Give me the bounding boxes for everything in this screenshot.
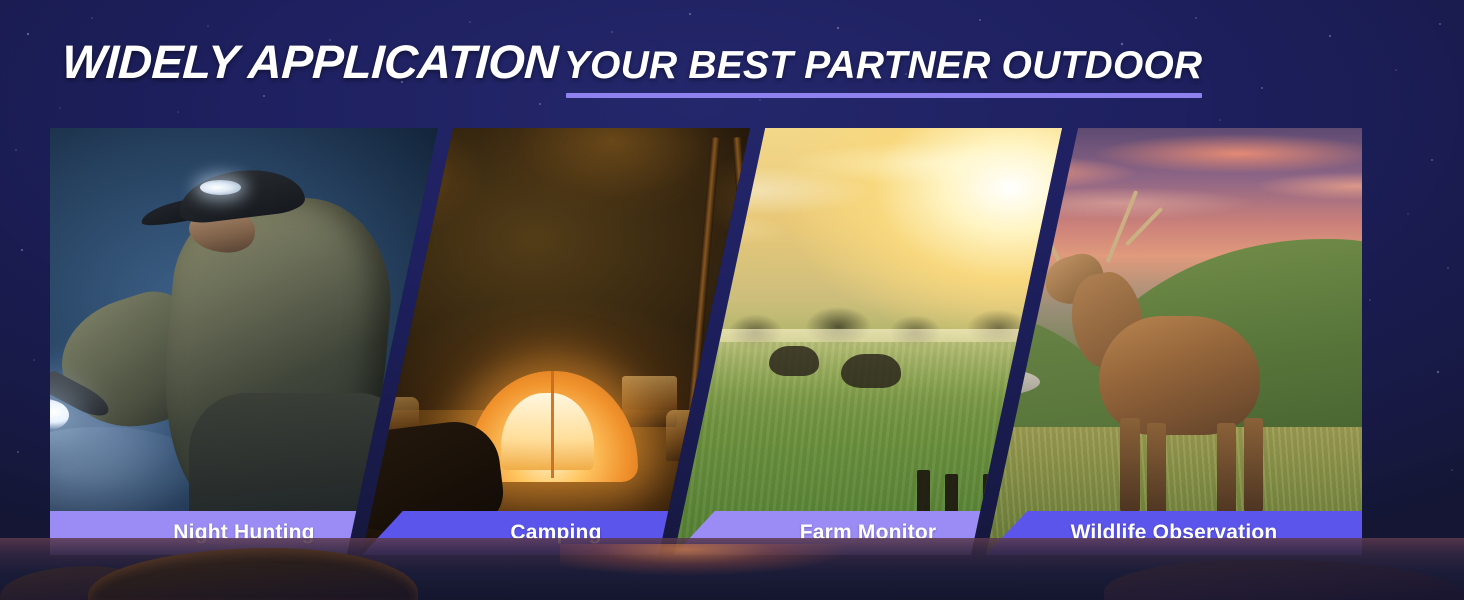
stag-leg [1244, 418, 1263, 512]
banner-heading: WIDELY APPLICATION YOUR BEST PARTNER OUT… [62, 38, 1202, 98]
subtitle-group: YOUR BEST PARTNER OUTDOOR [564, 46, 1202, 98]
headlamp-icon [200, 180, 241, 195]
page-subtitle: YOUR BEST PARTNER OUTDOOR [564, 46, 1202, 85]
stag-leg [1120, 418, 1139, 512]
cow-distant [841, 354, 901, 388]
promo-banner: WIDELY APPLICATION YOUR BEST PARTNER OUT… [0, 0, 1464, 600]
application-panel-strip: Night Hunting [50, 128, 1418, 555]
stag-leg [1147, 423, 1166, 517]
page-title: WIDELY APPLICATION [61, 38, 559, 85]
flashlight-beam [50, 399, 69, 431]
subtitle-underline [566, 93, 1202, 98]
cow-distant [769, 346, 818, 376]
tent-pole [551, 371, 554, 478]
stag-leg [1217, 423, 1236, 517]
bottom-horizon [0, 538, 1464, 600]
